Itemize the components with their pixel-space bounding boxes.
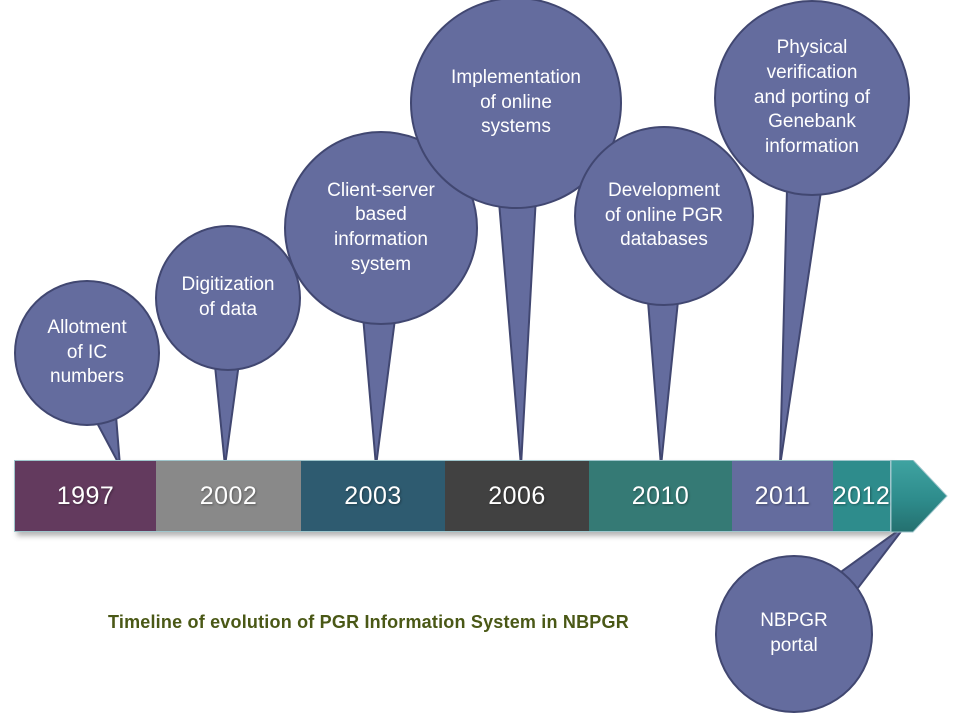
- timeline-arrow-tip: [891, 460, 947, 532]
- arrow-tip-shape: [891, 460, 951, 534]
- year-label-2002: 2002: [200, 482, 258, 511]
- timeline-bar: 1997200220032006201020112012: [14, 460, 891, 532]
- timeline-diagram: Allotment of IC numbersDigitization of d…: [0, 0, 960, 720]
- timeline-segment-2012[interactable]: 2012: [833, 461, 890, 531]
- year-label-2012: 2012: [833, 482, 891, 511]
- callout-circle: [156, 226, 300, 370]
- callout-circle: [715, 1, 909, 195]
- callout-shape-allotment-of-ic-numbers: [11, 277, 163, 470]
- timeline-segment-2002[interactable]: 2002: [156, 461, 301, 531]
- callout-shape-nbpgr-portal: [712, 521, 912, 716]
- timeline-segment-2006[interactable]: 2006: [445, 461, 589, 531]
- year-label-2011: 2011: [755, 482, 811, 511]
- timeline-segment-2010[interactable]: 2010: [589, 461, 732, 531]
- year-label-1997: 1997: [57, 482, 115, 511]
- callout-tail: [780, 166, 824, 466]
- callout-circle: [15, 281, 159, 425]
- callout-nbpgr-portal[interactable]: NBPGR portal: [712, 521, 912, 716]
- year-label-2003: 2003: [344, 482, 402, 511]
- callout-physical-verification-and-porting-of-genebank-information[interactable]: Physical verification and porting of Gen…: [711, 0, 913, 470]
- callout-tail: [497, 178, 537, 466]
- year-label-2006: 2006: [488, 482, 546, 511]
- callout-tail: [646, 280, 680, 466]
- callout-circle: [716, 556, 872, 712]
- timeline-segment-2003[interactable]: 2003: [301, 461, 445, 531]
- callout-shape-physical-verification-and-porting-of-genebank-information: [711, 0, 913, 470]
- timeline-segment-1997[interactable]: 1997: [15, 461, 156, 531]
- callout-allotment-of-ic-numbers[interactable]: Allotment of IC numbers: [11, 277, 163, 470]
- diagram-caption: Timeline of evolution of PGR Information…: [108, 612, 629, 633]
- timeline-segment-2011[interactable]: 2011: [732, 461, 833, 531]
- year-label-2010: 2010: [632, 482, 690, 511]
